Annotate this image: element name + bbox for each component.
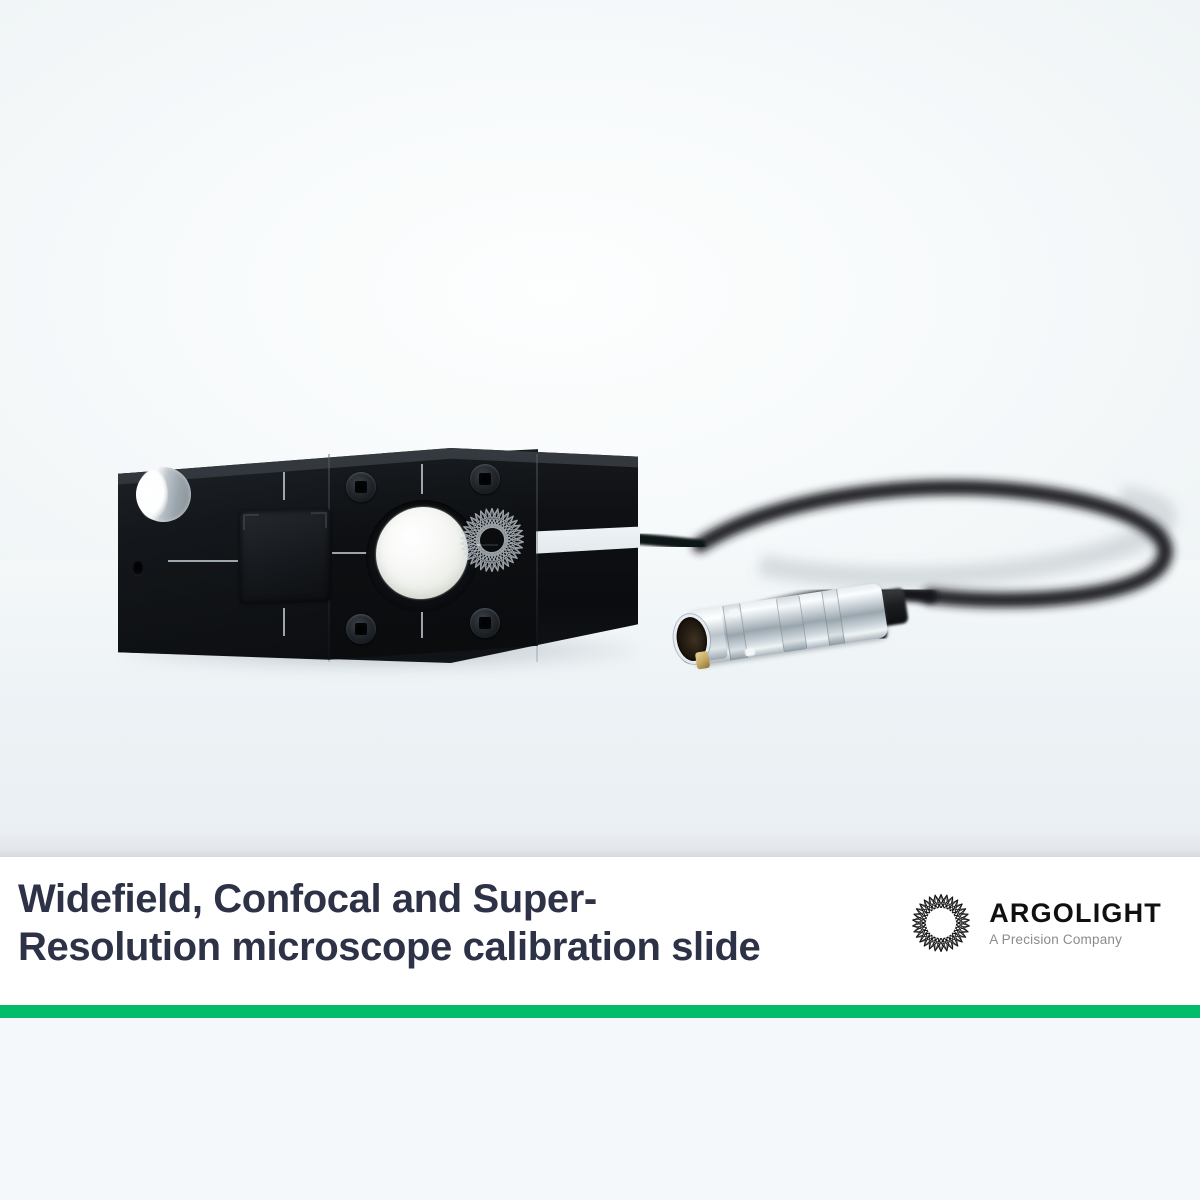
connector-key-2 <box>745 648 755 656</box>
engraved-argolight-icon <box>450 497 534 583</box>
panel-seam-right <box>536 454 538 662</box>
page-title: Widefield, Confocal and Super-Resolution… <box>18 875 760 971</box>
page-title-line-1: Widefield, Confocal and Super- <box>18 877 597 921</box>
alignment-mark-h1 <box>168 560 238 562</box>
alignment-mark-v3 <box>421 464 423 494</box>
product-photo <box>0 0 1200 857</box>
calibration-slide-holder <box>118 448 638 683</box>
brand-text: ARGOLIGHT A Precision Company <box>989 900 1162 947</box>
connector-key-1 <box>729 609 739 617</box>
slide-side-hole <box>132 560 144 576</box>
brand-tagline: A Precision Company <box>989 933 1162 947</box>
hex-screw-bottom-right <box>470 608 500 638</box>
footer-band <box>0 1018 1200 1200</box>
connector-pin <box>695 651 710 670</box>
hex-screw-top-right <box>470 464 500 494</box>
caption-inner: Widefield, Confocal and Super-Resolution… <box>18 875 1182 971</box>
alignment-mark-v4 <box>421 608 423 638</box>
sample-window-highlight <box>138 470 168 519</box>
alignment-mark-v1 <box>283 472 285 500</box>
hex-screw-top-left <box>346 472 376 502</box>
brand-lockup: ARGOLIGHT A Precision Company <box>905 887 1182 959</box>
argolight-spirograph-icon <box>905 887 977 959</box>
brand-name: ARGOLIGHT <box>989 900 1162 927</box>
hex-screw-bottom-left <box>346 614 376 644</box>
alignment-mark-v2 <box>283 608 285 636</box>
page-title-line-2: Resolution microscope calibration slide <box>18 925 760 969</box>
slide-page: Widefield, Confocal and Super-Resolution… <box>0 0 1200 1200</box>
green-accent-rule <box>0 1005 1200 1018</box>
sample-mount <box>240 509 330 604</box>
caption-band: Widefield, Confocal and Super-Resolution… <box>0 857 1200 1005</box>
photo-bottom-edge <box>0 831 1200 857</box>
